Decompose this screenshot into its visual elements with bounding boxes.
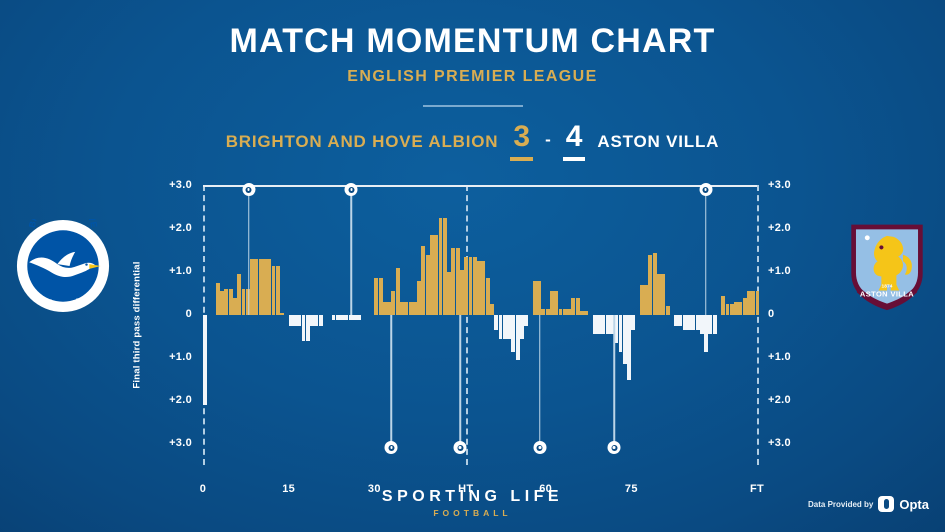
y-tick-right-3: 0	[768, 308, 774, 320]
football-icon	[242, 183, 255, 196]
brand-section: FOOTBALL	[0, 508, 945, 518]
y-tick-right-0: +3.0	[768, 179, 791, 191]
momentum-chart-page: MATCH MOMENTUM CHART ENGLISH PREMIER LEA…	[0, 0, 945, 532]
y-tick-right-2: +1.0	[768, 265, 791, 277]
football-icon	[454, 441, 467, 454]
football-icon	[385, 441, 398, 454]
home-team-name: BRIGHTON AND HOVE ALBION	[226, 132, 499, 152]
score-separator: -	[545, 130, 551, 154]
goal-stem	[705, 195, 707, 315]
divider-ht	[466, 185, 468, 465]
opta-logo-icon	[878, 496, 894, 512]
y-axis-label: Final third pass differential	[132, 261, 143, 388]
page-title: MATCH MOMENTUM CHART	[0, 22, 945, 61]
y-tick-right-4: +1.0	[768, 351, 791, 363]
bar	[713, 315, 717, 334]
football-icon	[608, 441, 621, 454]
y-tick-left-3: 0	[186, 308, 192, 320]
bar	[524, 315, 528, 326]
bar	[357, 315, 361, 320]
y-tick-left-5: +2.0	[169, 394, 192, 406]
home-score: 3	[510, 122, 533, 161]
data-credit-text: Data Provided by	[808, 500, 873, 509]
bar	[631, 315, 635, 330]
bar	[490, 304, 494, 315]
y-tick-right-5: +2.0	[768, 394, 791, 406]
svg-text:ASTON VILLA: ASTON VILLA	[860, 290, 914, 299]
data-attribution: Data Provided by Opta	[808, 496, 929, 512]
divider-ft	[757, 185, 759, 465]
y-tick-left-1: +2.0	[169, 222, 192, 234]
y-tick-left-0: +3.0	[169, 179, 192, 191]
zero-baseline	[203, 185, 757, 187]
aston-villa-crest: 1874 ASTON VILLA	[843, 219, 931, 318]
scoreline: BRIGHTON AND HOVE ALBION 3 - 4 ASTON VIL…	[0, 122, 945, 161]
goal-stem	[613, 315, 615, 447]
bar	[584, 311, 588, 315]
header-divider	[423, 105, 523, 107]
football-icon	[345, 183, 358, 196]
y-tick-left-4: +1.0	[169, 351, 192, 363]
football-icon	[699, 183, 712, 196]
momentum-chart: Final third pass differential +3.0+2.0+1…	[203, 185, 757, 465]
bar	[756, 291, 760, 315]
data-provider-name: Opta	[899, 497, 929, 512]
goal-stem	[351, 195, 353, 315]
away-team-name: ASTON VILLA	[597, 132, 719, 152]
bar	[203, 315, 207, 405]
goal-stem	[459, 315, 461, 447]
away-score: 4	[563, 122, 586, 161]
page-subtitle: ENGLISH PREMIER LEAGUE	[0, 68, 945, 86]
bar	[666, 306, 670, 315]
bar	[276, 266, 280, 315]
football-icon	[533, 441, 546, 454]
footer-branding: SPORTING LIFE FOOTBALL	[0, 488, 945, 518]
goal-stem	[539, 315, 541, 447]
bar	[280, 313, 284, 315]
y-tick-right-6: +3.0	[768, 437, 791, 449]
y-tick-left-6: +3.0	[169, 437, 192, 449]
goal-stem	[391, 315, 393, 447]
goal-stem	[248, 195, 250, 315]
y-tick-left-2: +1.0	[169, 265, 192, 277]
y-tick-right-1: +2.0	[768, 222, 791, 234]
bar	[319, 315, 323, 326]
brighton-and-hove-albion-crest: BRIGHTON & HOVE ALBION	[16, 219, 110, 318]
brand-name: SPORTING LIFE	[0, 488, 945, 506]
